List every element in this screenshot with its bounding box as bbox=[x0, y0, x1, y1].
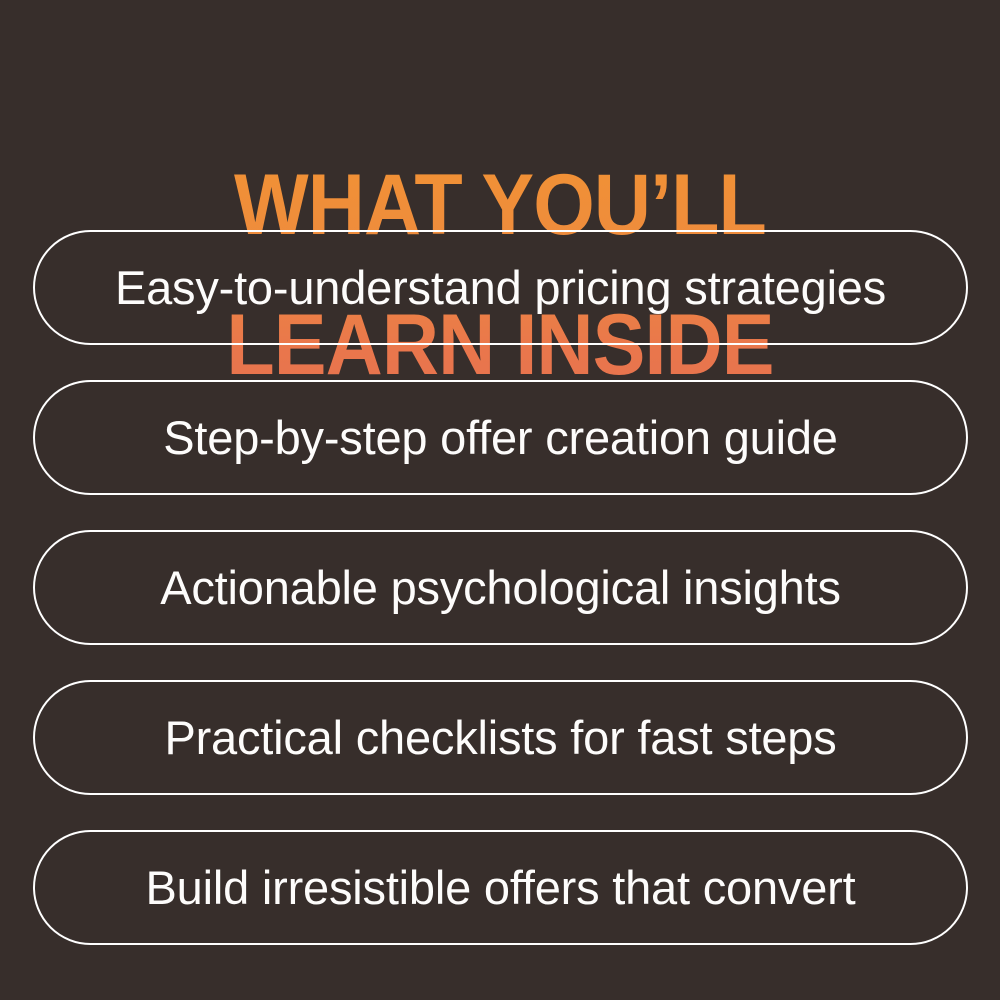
list-item-label: Step-by-step offer creation guide bbox=[163, 412, 837, 464]
list-item: Practical checklists for fast steps bbox=[33, 680, 968, 795]
poster-canvas: WHAT YOU’LL LEARN INSIDE Easy-to-underst… bbox=[0, 0, 1000, 1000]
list-item: Easy-to-understand pricing strategies bbox=[33, 230, 968, 345]
list-item-label: Easy-to-understand pricing strategies bbox=[115, 262, 886, 314]
list-item-label: Build irresistible offers that convert bbox=[146, 862, 856, 914]
learn-inside-list: Easy-to-understand pricing strategies St… bbox=[33, 230, 968, 945]
list-item-label: Practical checklists for fast steps bbox=[164, 712, 836, 764]
list-item: Step-by-step offer creation guide bbox=[33, 380, 968, 495]
list-item-label: Actionable psychological insights bbox=[160, 562, 841, 614]
list-item: Actionable psychological insights bbox=[33, 530, 968, 645]
list-item: Build irresistible offers that convert bbox=[33, 830, 968, 945]
